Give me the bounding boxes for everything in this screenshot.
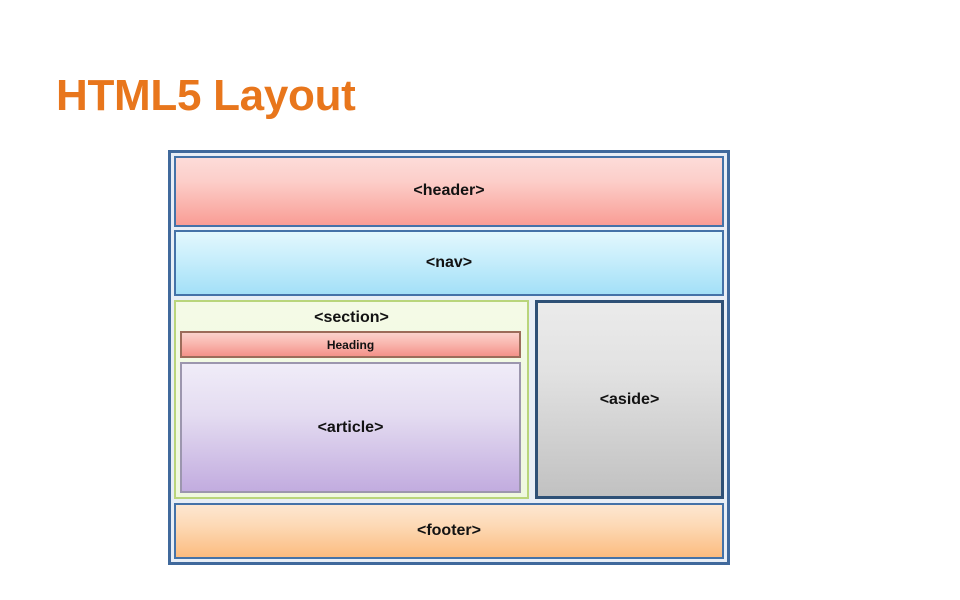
footer-block-label: <footer>	[417, 522, 481, 540]
diagram-block-heading: Heading	[180, 331, 521, 358]
diagram-block-footer: <footer>	[174, 503, 724, 559]
header-block-label: <header>	[413, 182, 484, 200]
diagram-block-aside: <aside>	[535, 300, 724, 499]
diagram-middle-row: <section> Heading <article> <aside>	[174, 300, 724, 499]
html5-layout-diagram: <header> <nav> <section> Heading <articl…	[168, 150, 730, 565]
diagram-block-header: <header>	[174, 156, 724, 227]
diagram-block-section: <section> Heading <article>	[174, 300, 529, 499]
heading-block-label: Heading	[327, 338, 374, 352]
article-block-label: <article>	[318, 419, 384, 437]
section-title-row: <section>	[180, 305, 523, 331]
diagram-block-article: <article>	[180, 362, 521, 493]
page-title: HTML5 Layout	[56, 73, 356, 119]
nav-block-label: <nav>	[426, 254, 472, 272]
section-block-label: <section>	[314, 309, 389, 327]
aside-block-label: <aside>	[600, 391, 660, 409]
diagram-block-nav: <nav>	[174, 230, 724, 297]
